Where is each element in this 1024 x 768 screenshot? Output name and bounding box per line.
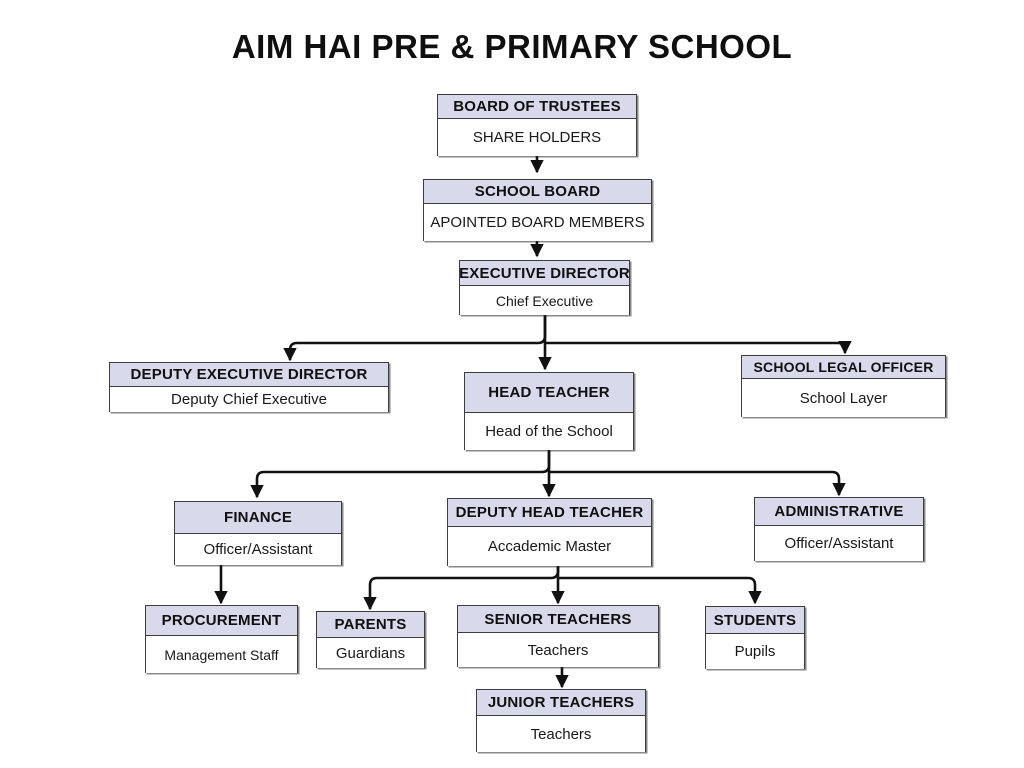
node-head-teacher[interactable]: HEAD TEACHER Head of the School bbox=[464, 372, 634, 450]
node-header: FINANCE bbox=[175, 502, 341, 534]
edge-head-teacher-to-administrative bbox=[549, 472, 839, 495]
node-header: HEAD TEACHER bbox=[465, 373, 633, 413]
node-subtitle: Management Staff bbox=[146, 636, 297, 673]
node-subtitle: Officer/Assistant bbox=[175, 534, 341, 565]
edge-head-teacher-to-finance bbox=[257, 450, 549, 497]
node-header: SCHOOL LEGAL OFFICER bbox=[742, 356, 945, 379]
node-board-of-trustees[interactable]: BOARD OF TRUSTEES SHARE HOLDERS bbox=[437, 94, 637, 156]
node-junior-teachers[interactable]: JUNIOR TEACHERS Teachers bbox=[476, 689, 646, 752]
node-subtitle: APOINTED BOARD MEMBERS bbox=[424, 204, 651, 241]
node-subtitle: Head of the School bbox=[465, 413, 633, 450]
node-senior-teachers[interactable]: SENIOR TEACHERS Teachers bbox=[457, 605, 659, 667]
node-header: EXECUTIVE DIRECTOR bbox=[460, 261, 629, 286]
node-school-legal-officer[interactable]: SCHOOL LEGAL OFFICER School Layer bbox=[741, 355, 946, 417]
node-finance[interactable]: FINANCE Officer/Assistant bbox=[174, 501, 342, 565]
edge-deputy-head-teacher-to-students bbox=[558, 578, 755, 603]
node-executive-director[interactable]: EXECUTIVE DIRECTOR Chief Executive bbox=[459, 260, 630, 315]
node-students[interactable]: STUDENTS Pupils bbox=[705, 606, 805, 669]
node-deputy-executive-director[interactable]: DEPUTY EXECUTIVE DIRECTOR Deputy Chief E… bbox=[109, 362, 389, 412]
node-header: SCHOOL BOARD bbox=[424, 180, 651, 204]
node-subtitle: Teachers bbox=[458, 633, 658, 667]
edge-deputy-head-teacher-to-parents bbox=[370, 566, 558, 609]
node-subtitle: SHARE HOLDERS bbox=[438, 119, 636, 156]
node-header: ADMINISTRATIVE bbox=[755, 498, 923, 526]
node-school-board[interactable]: SCHOOL BOARD APOINTED BOARD MEMBERS bbox=[423, 179, 652, 241]
node-parents[interactable]: PARENTS Guardians bbox=[316, 611, 425, 668]
edge-executive-director-to-deputy-executive-director bbox=[290, 315, 545, 360]
node-subtitle: Chief Executive bbox=[460, 286, 629, 315]
node-deputy-head-teacher[interactable]: DEPUTY HEAD TEACHER Accademic Master bbox=[447, 498, 652, 566]
node-subtitle: School Layer bbox=[742, 379, 945, 417]
node-administrative[interactable]: ADMINISTRATIVE Officer/Assistant bbox=[754, 497, 924, 561]
node-subtitle: Accademic Master bbox=[448, 527, 651, 566]
node-header: PARENTS bbox=[317, 612, 424, 638]
node-subtitle: Teachers bbox=[477, 716, 645, 752]
node-header: BOARD OF TRUSTEES bbox=[438, 95, 636, 119]
org-chart-canvas: AIM HAI PRE & PRIMARY SCHOOL bbox=[0, 0, 1024, 768]
node-header: JUNIOR TEACHERS bbox=[477, 690, 645, 716]
node-header: DEPUTY EXECUTIVE DIRECTOR bbox=[110, 363, 388, 387]
page-title: AIM HAI PRE & PRIMARY SCHOOL bbox=[0, 28, 1024, 66]
node-procurement[interactable]: PROCUREMENT Management Staff bbox=[145, 605, 298, 673]
node-subtitle: Deputy Chief Executive bbox=[110, 387, 388, 412]
node-header: STUDENTS bbox=[706, 607, 804, 634]
node-header: SENIOR TEACHERS bbox=[458, 606, 658, 633]
node-subtitle: Guardians bbox=[317, 638, 424, 668]
edge-executive-director-to-school-legal-officer bbox=[545, 343, 845, 353]
node-header: DEPUTY HEAD TEACHER bbox=[448, 499, 651, 527]
node-subtitle: Pupils bbox=[706, 634, 804, 669]
node-header: PROCUREMENT bbox=[146, 606, 297, 636]
node-subtitle: Officer/Assistant bbox=[755, 526, 923, 561]
